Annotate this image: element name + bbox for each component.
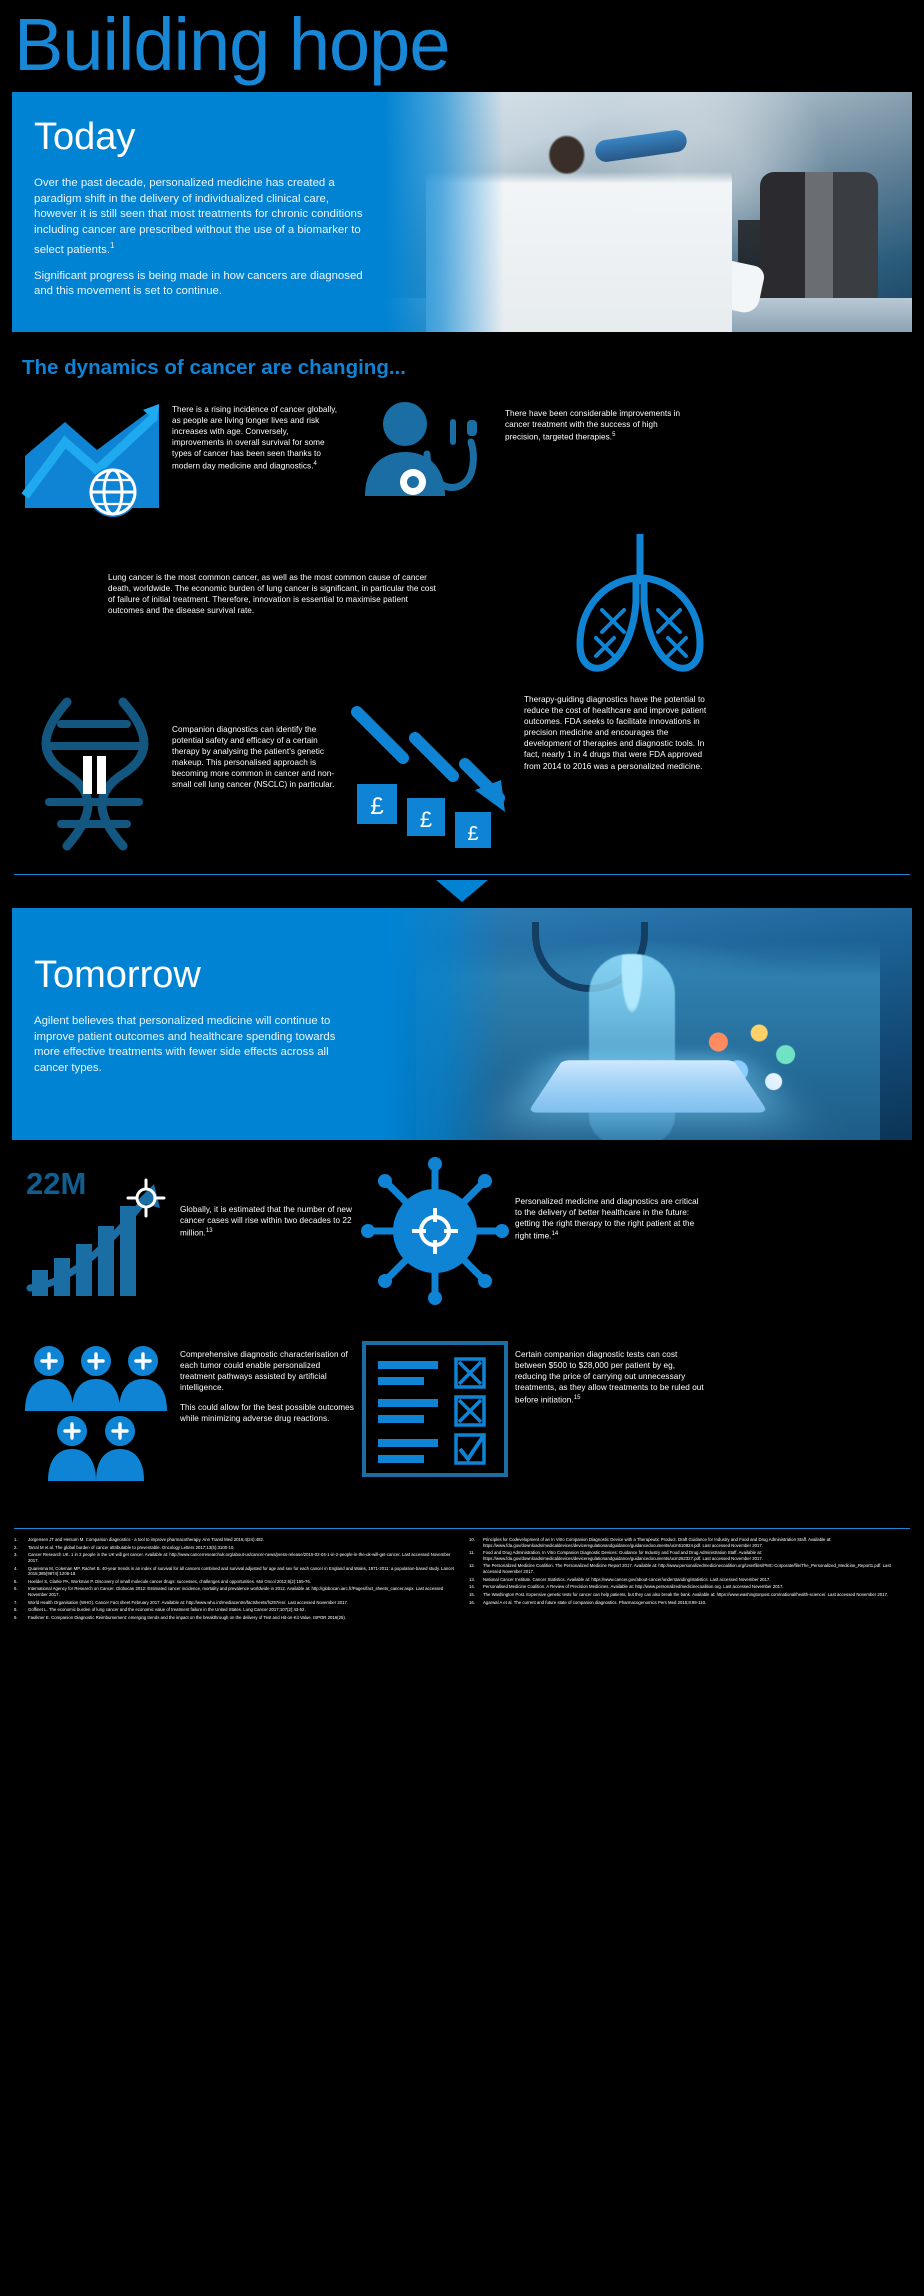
references-column-right: 10.Principles for Codevelopment of an In… <box>469 1537 910 1623</box>
dynamics-row-3: Companion diagnostics can identify the p… <box>12 684 912 864</box>
reference-item: 15.The Washington Post. Expensive geneti… <box>469 1592 910 1598</box>
photo-gradient-overlay <box>384 92 504 332</box>
masthead: Building hope <box>0 0 924 92</box>
dynamics-title: The dynamics of cancer are changing... <box>22 356 912 380</box>
dynamics-row-1: There is a rising incidence of cancer gl… <box>12 394 912 524</box>
references-column-left: 1.Jorgensen JT and Hersom M. Companion d… <box>14 1537 455 1623</box>
today-hero: Today Over the past decade, personalized… <box>12 92 912 332</box>
future-item-1-text: Personalized medicine and diagnostics ar… <box>515 1152 707 1327</box>
future-row-2: Comprehensive diagnostic characterisatio… <box>12 1327 912 1512</box>
svg-text:£: £ <box>420 807 432 832</box>
reference-item: 6.International Agency for Research on C… <box>14 1586 455 1597</box>
reference-item: 4.Quaresma M, Coleman MP, Rachet B. 40-y… <box>14 1566 455 1577</box>
lab-glove <box>684 253 766 315</box>
down-arrow-icon <box>436 880 488 902</box>
dynamics-row-2: Lung cancer is the most common cancer, a… <box>12 524 912 684</box>
infographic-page: Building hope Today Over the past decade… <box>0 0 924 2296</box>
growth-chart-globe-icon <box>12 394 172 524</box>
future-item-2-text: Comprehensive diagnostic characterisatio… <box>180 1327 355 1512</box>
dynamics-item-1-text: There have been considerable improvement… <box>505 394 695 524</box>
tomorrow-hero: Tomorrow Agilent believes that personali… <box>12 908 912 1140</box>
svg-text:£: £ <box>467 823 478 845</box>
bar-chart-growth-icon: 22M <box>12 1152 180 1327</box>
cost-decline-pounds-icon: £ £ £ <box>344 684 524 864</box>
tomorrow-photo-gradient <box>384 908 504 1140</box>
tomorrow-paragraph-1: Agilent believes that personalized medic… <box>34 1014 364 1076</box>
today-title: Today <box>34 114 364 160</box>
dynamics-section: The dynamics of cancer are changing... T… <box>0 332 924 864</box>
reference-item: 9.Faulkner E. Companion Diagnostic Reimb… <box>14 1615 455 1621</box>
tomorrow-photo <box>384 908 912 1140</box>
stat-22m-label: 22M <box>26 1166 86 1201</box>
footnote-ref-1: 1 <box>110 241 114 250</box>
floating-pills <box>692 1015 812 1105</box>
reference-item: 5.Hoelder S, Clarke PA, Workman P. Disco… <box>14 1579 455 1585</box>
today-paragraph-1: Over the past decade, personalized medic… <box>34 176 364 259</box>
reference-item: 13.National Cancer Institute. Cancer Sta… <box>469 1577 910 1583</box>
dna-helix-icon <box>12 684 172 864</box>
dynamics-item-3-text: Companion diagnostics can identify the p… <box>172 684 344 864</box>
lungs-icon <box>438 524 842 684</box>
page-title: Building hope <box>14 2 924 88</box>
future-row-1: 22M Globally, it is estimated t <box>12 1152 912 1327</box>
future-item-3-text: Certain companion diagnostic tests can c… <box>515 1327 707 1512</box>
future-item-0-text: Globally, it is estimated that the numbe… <box>180 1152 355 1327</box>
reference-item: 10.Principles for Codevelopment of an In… <box>469 1537 910 1548</box>
reference-item: 14.Personalised Medicine Coalition. A Re… <box>469 1584 910 1590</box>
virus-target-icon <box>355 1152 515 1327</box>
section-divider <box>0 874 924 908</box>
dynamics-item-0-text: There is a rising incidence of cancer gl… <box>172 394 340 524</box>
future-section: 22M Globally, it is estimated t <box>0 1140 924 1512</box>
dynamics-item-2-text: Lung cancer is the most common cancer, a… <box>108 524 438 684</box>
reference-item: 7.World Health Organisation (WHO). Cance… <box>14 1600 455 1606</box>
reference-item: 2.Tarral M et al. The global burden of c… <box>14 1545 455 1551</box>
checklist-icon <box>355 1327 515 1512</box>
patients-group-icon <box>12 1327 180 1512</box>
reference-item: 1.Jorgensen JT and Hersom M. Companion d… <box>14 1537 455 1543</box>
dynamics-item-4-text: Therapy-guiding diagnostics have the pot… <box>524 684 714 864</box>
tomorrow-copy: Tomorrow Agilent believes that personali… <box>12 908 384 1140</box>
reference-item: 3.Cancer Research UK. 1 in 2 people in t… <box>14 1552 455 1563</box>
today-paragraph-2: Significant progress is being made in ho… <box>34 269 364 300</box>
reference-item: 16.Agarwal A et al. The current and futu… <box>469 1600 910 1606</box>
safety-goggles <box>594 129 688 164</box>
doctor-stethoscope-icon <box>340 394 505 524</box>
reference-item: 12.The Personalized Medicine Coalition. … <box>469 1563 910 1574</box>
reference-item: 11.Food and Drug Administration. In Vitr… <box>469 1550 910 1561</box>
today-copy: Today Over the past decade, personalized… <box>12 92 384 332</box>
today-photo <box>384 92 912 332</box>
tomorrow-title: Tomorrow <box>34 952 364 998</box>
references-section: 1.Jorgensen JT and Hersom M. Companion d… <box>14 1528 910 1623</box>
divider-line <box>14 874 910 875</box>
svg-text:£: £ <box>370 793 383 820</box>
reference-item: 8.Goffinet L. The economic burden of lun… <box>14 1607 455 1613</box>
